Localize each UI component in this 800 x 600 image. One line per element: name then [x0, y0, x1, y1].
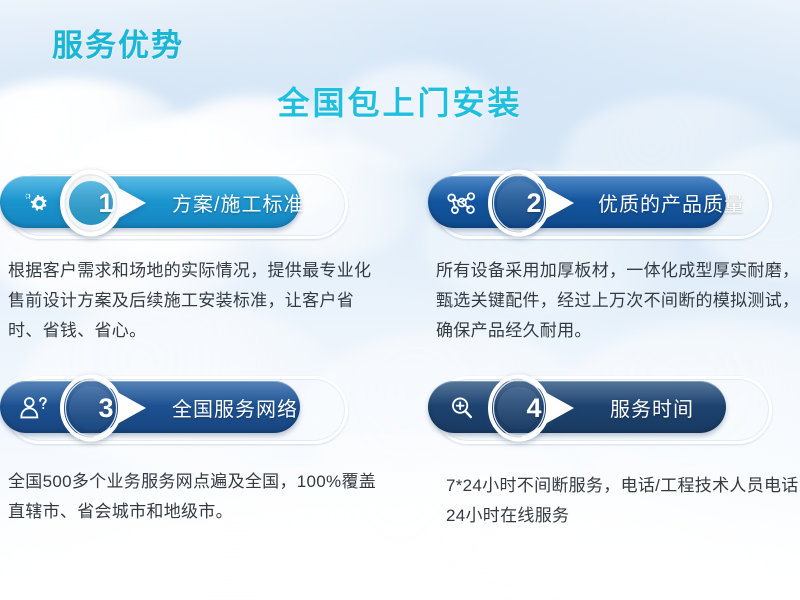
feature-description: 全国500多个业务服务网点遍及全国，100%覆盖直辖市、省会城市和地级市。: [0, 467, 386, 527]
network-nodes-icon: [446, 188, 478, 218]
feature-grid: 1 方案/施工标准 根据客户需求和场地的实际情况，提供最专业化售前设计方案及后续…: [0, 0, 800, 600]
slide-root: 服务优势 全国包上门安装: [0, 0, 800, 600]
feature-description: 根据客户需求和场地的实际情况，提供最专业化售前设计方案及后续施工安装标准，让客户…: [0, 256, 386, 346]
feature-label: 方案/施工标准: [172, 176, 305, 228]
feature-badge-2[interactable]: 2 优质的产品质量: [428, 166, 800, 240]
number-plate-shape: [488, 373, 596, 443]
feature-label: 服务时间: [610, 381, 694, 433]
feature-description: 7*24小时不间断服务，电话/工程技术人员电话24小时在线服务: [428, 471, 800, 531]
feature-card-2: 2 优质的产品质量 所有设备采用加厚板材，一体化成型厚实耐磨，甄选关键配件，经过…: [428, 166, 800, 363]
zoom-in-icon: [446, 393, 478, 423]
person-question-icon: [18, 393, 50, 423]
feature-card-4: 4 服务时间 7*24小时不间断服务，电话/工程技术人员电话24小时在线服务: [428, 371, 800, 548]
feature-badge-1[interactable]: 1 方案/施工标准: [0, 166, 400, 240]
feature-badge-4[interactable]: 4 服务时间: [428, 371, 800, 445]
feature-badge-3[interactable]: 3 全国服务网络: [0, 371, 400, 445]
feature-card-3: 3 全国服务网络 全国500多个业务服务网点遍及全国，100%覆盖直辖市、省会城…: [0, 371, 400, 544]
number-plate-shape: [60, 168, 168, 238]
feature-label: 优质的产品质量: [598, 176, 745, 228]
gears-icon: [18, 188, 50, 218]
number-plate-shape: [488, 168, 596, 238]
feature-description: 所有设备采用加厚板材，一体化成型厚实耐磨，甄选关键配件，经过上万次不间断的模拟测…: [428, 256, 800, 346]
number-plate-shape: [60, 373, 168, 443]
feature-card-1: 1 方案/施工标准 根据客户需求和场地的实际情况，提供最专业化售前设计方案及后续…: [0, 166, 400, 363]
feature-label: 全国服务网络: [172, 381, 298, 433]
